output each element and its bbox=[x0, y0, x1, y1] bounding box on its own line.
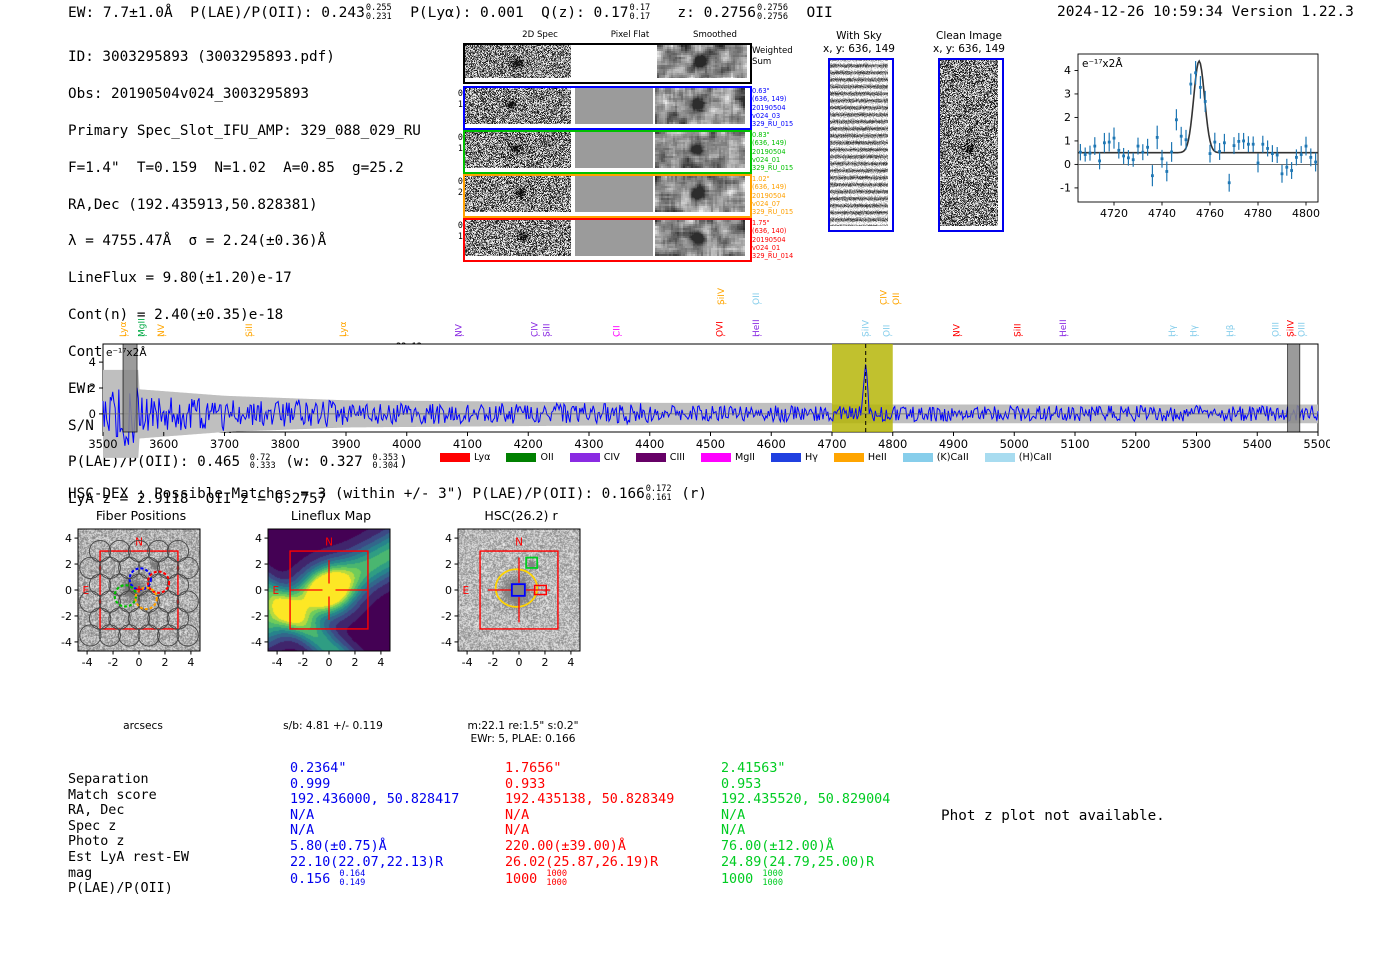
spec2d-col-title-pixelflat: Pixel Flat bbox=[590, 30, 670, 40]
compass-north: N bbox=[515, 536, 523, 548]
spec2d-strip-meta-line: 329_RU_015 bbox=[752, 208, 793, 216]
spec2d-strip-meta-line: 20190504 bbox=[752, 192, 793, 200]
spectrum-xtick: 5200 bbox=[1121, 437, 1150, 451]
line-marker-label: SiIV bbox=[717, 287, 727, 305]
spec2d-strip-image bbox=[463, 86, 752, 130]
compass-north: N bbox=[135, 536, 143, 548]
matches-row-label: Match score bbox=[68, 788, 189, 804]
line-marker-label: OII bbox=[892, 293, 902, 305]
imaging-xtick: 2 bbox=[161, 656, 168, 669]
header-summary-line: EW: 7.7±1.0Å P(LAE)/P(OII): 0.2430.2550.… bbox=[68, 4, 833, 22]
matches-cell: 192.435138, 50.828349 bbox=[505, 792, 674, 808]
imaging-xtick: 2 bbox=[541, 656, 548, 669]
spec2d-strip-image bbox=[463, 174, 752, 218]
header-z-value: 0.2756 bbox=[704, 5, 756, 21]
legend-swatch bbox=[570, 453, 600, 462]
legend-swatch bbox=[985, 453, 1015, 462]
matches-cell: 1000 10001000 bbox=[505, 870, 674, 888]
header-z-lo: 0.2756 bbox=[757, 12, 788, 22]
imaging-panel-title: HSC(26.2) r bbox=[436, 508, 606, 523]
spec2d-strip-meta-line: 1.02" bbox=[752, 175, 793, 183]
legend-label: HeII bbox=[868, 452, 887, 463]
compass-east: E bbox=[272, 585, 279, 597]
spec2d-strip: 0.371.114340.63"(636, 149)20190504v024_0… bbox=[440, 86, 780, 130]
matches-cell: 1.7656" bbox=[505, 761, 674, 777]
line-marker-label: SiIV bbox=[1287, 319, 1297, 337]
imaging-panel-svg: NE-4-4-2-2002244 bbox=[48, 523, 233, 720]
imaging-xtick: 2 bbox=[351, 656, 358, 669]
emission-line-zoom-plot: e⁻¹⁷x2Å47204740476047804800-101234 bbox=[1036, 44, 1326, 234]
matches-cell: 192.435520, 50.829004 bbox=[721, 792, 890, 808]
imaging-panel-title: Lineflux Map bbox=[246, 508, 416, 523]
imaging-ytick: 2 bbox=[445, 558, 452, 571]
matches-plae-lo: 1000 bbox=[762, 878, 783, 888]
spectrum-xtick: 3800 bbox=[271, 437, 300, 451]
imaging-xtick: -2 bbox=[488, 656, 499, 669]
line-marker-label: OII bbox=[752, 293, 762, 305]
info-lambda: λ = 4755.47Å σ = 2.24(±0.36)Å bbox=[68, 232, 432, 250]
cutout-title-text: Clean Image bbox=[928, 30, 1010, 43]
matches-cell: 0.999 bbox=[290, 777, 459, 793]
spec2d-strip-meta-line: 1.75" bbox=[752, 219, 793, 227]
line-marker-label: Lyα bbox=[119, 321, 129, 337]
matches-cell: N/A bbox=[721, 808, 890, 824]
spec2d-strip-meta-line: (636, 149) bbox=[752, 139, 793, 147]
line-marker-label: SiII bbox=[1013, 323, 1023, 337]
spectrum-xtick: 5500 bbox=[1303, 437, 1330, 451]
matches-column: 1.7656"0.933192.435138, 50.828349N/AN/A2… bbox=[505, 761, 674, 888]
legend-swatch bbox=[701, 453, 731, 462]
spec2d-strip-meta-line: 0.83" bbox=[752, 131, 793, 139]
matches-column: 0.2364"0.999192.436000, 50.828417N/AN/A5… bbox=[290, 761, 459, 888]
info-id: ID: 3003295893 (3003295893.pdf) bbox=[68, 48, 432, 66]
spec2d-strip-meta-line: v024_01 bbox=[752, 156, 793, 164]
spec2d-strip-image bbox=[463, 130, 752, 174]
spec2d-strip: 0.291.334340.83"(636, 149)20190504v024_0… bbox=[440, 130, 780, 174]
spec2d-strip-meta-line: v024_01 bbox=[752, 244, 793, 252]
matches-row-label: Est LyA rest-EW bbox=[68, 850, 189, 866]
imaging-xtick: -4 bbox=[82, 656, 93, 669]
emission-line-markers: ⏞Lyα⏞MgII⏞NV⏞SiII⏞Lyα⏞NV⏞CIV⏞SiII⏞CII⏞OV… bbox=[119, 287, 1308, 345]
line-marker-label: Lyα bbox=[339, 321, 349, 337]
legend-swatch bbox=[506, 453, 536, 462]
imaging-ytick: 2 bbox=[255, 558, 262, 571]
cutout-image-with-sky bbox=[828, 58, 894, 232]
line-marker-label: HeII bbox=[1059, 319, 1069, 337]
line-marker-label: NV bbox=[454, 323, 464, 337]
photz-note: Phot z plot not available. bbox=[941, 808, 1165, 824]
matches-cell: 76.00(±12.00)Å bbox=[721, 839, 890, 855]
matches-plae-value: 0.156 bbox=[290, 872, 338, 887]
imaging-xtick: 0 bbox=[136, 656, 143, 669]
legend-swatch bbox=[440, 453, 470, 462]
imaging-ytick: 2 bbox=[65, 558, 72, 571]
spectrum-xtick: 5300 bbox=[1182, 437, 1211, 451]
header-plae-value: 0.243 bbox=[321, 5, 365, 21]
legend-label: (K)CaII bbox=[937, 452, 969, 463]
full-spectrum-plot: ⏞Lyα⏞MgII⏞NV⏞SiII⏞Lyα⏞NV⏞CIV⏞SiII⏞CII⏞OV… bbox=[60, 272, 1330, 472]
imaging-ytick: 0 bbox=[445, 584, 452, 597]
imaging-panel-caption-line: m:22.1 re:1.5" s:0.2" bbox=[438, 720, 608, 733]
imaging-ytick: -2 bbox=[441, 610, 452, 623]
imaging-ytick: -4 bbox=[441, 636, 452, 649]
legend-swatch bbox=[771, 453, 801, 462]
matches-row-label: Photo z bbox=[68, 834, 189, 850]
imaging-ytick: -4 bbox=[251, 636, 262, 649]
matches-cell: N/A bbox=[505, 808, 674, 824]
cutout-image-clean bbox=[938, 58, 1004, 232]
imaging-panel-caption: m:22.1 re:1.5" s:0.2"EWr: 5, PLAE: 0.166 bbox=[438, 720, 608, 746]
info-radec: RA,Dec (192.435913,50.828381) bbox=[68, 196, 432, 214]
info-seeing: F=1.4" T=0.159 N=1.02 A=0.85 g=25.2 bbox=[68, 159, 432, 177]
spec2d-montage: 2D Spec Pixel Flat Smoothed Weighted Sum… bbox=[440, 30, 780, 265]
matches-cell: 24.89(24.79,25.00)R bbox=[721, 855, 890, 871]
cutout-coords: x, y: 636, 149 bbox=[818, 43, 900, 56]
spectrum-xtick: 3900 bbox=[331, 437, 360, 451]
imaging-panel-title: Fiber Positions bbox=[56, 508, 226, 523]
matches-cell: 26.02(25.87,26.19)R bbox=[505, 855, 674, 871]
hsc-headline-lo: 0.161 bbox=[646, 493, 672, 503]
line-marker-label: NV bbox=[157, 323, 167, 337]
line-marker-label: OII bbox=[883, 325, 893, 337]
legend-label: OII bbox=[540, 452, 553, 463]
matches-row-label: P(LAE)/P(OII) bbox=[68, 881, 189, 897]
imaging-xtick: -4 bbox=[272, 656, 283, 669]
compass-east: E bbox=[462, 585, 469, 597]
header-qz-label: Q(z): bbox=[541, 5, 585, 21]
matches-cell: 220.00(±39.00)Å bbox=[505, 839, 674, 855]
header-plae-label: P(LAE)/P(OII): bbox=[190, 5, 312, 21]
imaging-xtick: -2 bbox=[108, 656, 119, 669]
header-z-label: z: bbox=[677, 5, 694, 21]
matches-row-label: Spec z bbox=[68, 819, 189, 835]
matches-column: 2.41563"0.953192.435520, 50.829004N/AN/A… bbox=[721, 761, 890, 888]
cutout-title: With Skyx, y: 636, 149 bbox=[818, 30, 900, 55]
header-qz-lo: 0.17 bbox=[629, 12, 650, 22]
line-marker-label: OIII bbox=[1272, 322, 1282, 337]
matches-cell: 22.10(22.07,22.13)R bbox=[290, 855, 459, 871]
imaging-ytick: 0 bbox=[65, 584, 72, 597]
spectrum-xtick: 5400 bbox=[1243, 437, 1272, 451]
spec2d-strip-meta-line: (636, 140) bbox=[752, 227, 793, 235]
line-marker-label: CIV bbox=[880, 289, 890, 305]
legend-label: MgII bbox=[735, 452, 755, 463]
header-ew: EW: 7.7±1.0Å bbox=[68, 5, 173, 21]
spec2d-strip-meta-line: (636, 149) bbox=[752, 183, 793, 191]
zoom-plot-xtick: 4720 bbox=[1100, 207, 1128, 220]
legend-label: CIII bbox=[670, 452, 685, 463]
zoom-plot-xtick: 4780 bbox=[1244, 207, 1272, 220]
info-obs: Obs: 20190504v024_3003295893 bbox=[68, 85, 432, 103]
spec2d-strip: 0.212.184341.02"(636, 149)20190504v024_0… bbox=[440, 174, 780, 218]
line-marker-label: NV bbox=[953, 323, 963, 337]
masked-region bbox=[1288, 344, 1300, 432]
legend-swatch bbox=[636, 453, 666, 462]
line-marker-label: CII bbox=[612, 325, 622, 337]
spectrum-xtick: 3700 bbox=[210, 437, 239, 451]
matches-row-label: RA, Dec bbox=[68, 803, 189, 819]
zoom-plot-ytick: 4 bbox=[1064, 64, 1071, 77]
imaging-panel-caption-line2: EWr: 5, PLAE: 0.166 bbox=[438, 733, 608, 746]
zoom-plot-ytick: 0 bbox=[1064, 158, 1071, 171]
imaging-ytick: -2 bbox=[61, 610, 72, 623]
imaging-panel-2: HSC(26.2) rNE-4-4-2-2002244m:22.1 re:1.5… bbox=[428, 508, 613, 746]
matches-cell: N/A bbox=[505, 823, 674, 839]
spec2d-col-title-2dspec: 2D Spec bbox=[500, 30, 580, 40]
spectrum-xtick: 4000 bbox=[392, 437, 421, 451]
zoom-plot-ytick: 1 bbox=[1064, 135, 1071, 148]
spec2d-strip-meta-line: v024_03 bbox=[752, 112, 793, 120]
spec2d-strip-meta-line: 0.63" bbox=[752, 87, 793, 95]
spectrum-annotation: e⁻¹⁷x2Å bbox=[106, 346, 147, 359]
matches-cell: 0.953 bbox=[721, 777, 890, 793]
spec2d-strip-meta-line: v024_07 bbox=[752, 200, 793, 208]
zoom-plot-ytick: -1 bbox=[1060, 182, 1071, 195]
imaging-xtick: -4 bbox=[462, 656, 473, 669]
imaging-panel-0: Fiber PositionsNE-4-4-2-2002244arcsecs bbox=[48, 508, 233, 733]
imaging-panel-row: Fiber PositionsNE-4-4-2-2002244arcsecsLi… bbox=[48, 508, 688, 738]
imaging-xtick: -2 bbox=[298, 656, 309, 669]
spec2d-col-title-smoothed: Smoothed bbox=[675, 30, 755, 40]
spectrum-xtick: 3600 bbox=[149, 437, 178, 451]
matches-cell: N/A bbox=[290, 808, 459, 824]
matches-cell: 0.933 bbox=[505, 777, 674, 793]
spec2d-strip-meta-line: 20190504 bbox=[752, 148, 793, 156]
line-marker-label: HeII bbox=[752, 319, 762, 337]
matches-cell: N/A bbox=[721, 823, 890, 839]
header-timestamp: 2024-12-26 10:59:34 Version 1.22.3 bbox=[1057, 4, 1354, 20]
matches-table-row-labels: SeparationMatch scoreRA, DecSpec zPhoto … bbox=[68, 772, 189, 897]
legend-swatch bbox=[834, 453, 864, 462]
spec2d-strip-meta-line: 329_RU_015 bbox=[752, 164, 793, 172]
cutout-title-text: With Sky bbox=[818, 30, 900, 43]
matches-row-label: Separation bbox=[68, 772, 189, 788]
spec2d-strip-meta-line: (636, 149) bbox=[752, 95, 793, 103]
zoom-plot-xtick: 4740 bbox=[1148, 207, 1176, 220]
spectrum-ytick: 2 bbox=[89, 381, 96, 395]
imaging-ytick: 4 bbox=[65, 532, 72, 545]
matches-cell: 5.80(±0.75)Å bbox=[290, 839, 459, 855]
zoom-plot-svg: e⁻¹⁷x2Å47204740476047804800-101234 bbox=[1036, 44, 1326, 234]
header-plya: P(Lyα): 0.001 bbox=[410, 5, 524, 21]
imaging-ytick: -2 bbox=[251, 610, 262, 623]
spec2d-weighted-sum-panel bbox=[463, 43, 752, 84]
zoom-plot-xtick: 4800 bbox=[1292, 207, 1320, 220]
zoom-plot-ytick: 2 bbox=[1064, 111, 1071, 124]
hsc-headline-text: HSC-DEX : Possible Matches = 3 (within +… bbox=[68, 486, 645, 502]
spec2d-strip-meta-line: 20190504 bbox=[752, 236, 793, 244]
matches-cell: 0.2364" bbox=[290, 761, 459, 777]
imaging-xtick: 4 bbox=[187, 656, 194, 669]
spec2d-strip-meta: 0.83"(636, 149)20190504v024_01329_RU_015 bbox=[752, 131, 793, 172]
spectrum-ytick: 0 bbox=[89, 407, 96, 421]
imaging-xtick: 0 bbox=[326, 656, 333, 669]
legend-label: CIV bbox=[604, 452, 620, 463]
matches-row-label: mag bbox=[68, 866, 189, 882]
hsc-headline-band: (r) bbox=[681, 486, 707, 502]
matches-plae-value: 1000 bbox=[721, 872, 761, 887]
line-marker-label: Hβ bbox=[1226, 324, 1236, 337]
cutout-panels: With Skyx, y: 636, 149Clean Imagex, y: 6… bbox=[818, 30, 1018, 250]
imaging-ytick: 0 bbox=[255, 584, 262, 597]
line-marker-label: OVI bbox=[716, 321, 726, 337]
spec2d-strip-meta-line: 329_RU_015 bbox=[752, 120, 793, 128]
matches-cell: 1000 10001000 bbox=[721, 870, 890, 888]
legend-label: Lyα bbox=[474, 452, 490, 463]
matches-plae-value: 1000 bbox=[505, 872, 545, 887]
line-marker-label: SiII bbox=[245, 323, 255, 337]
cutout-title: Clean Imagex, y: 636, 149 bbox=[928, 30, 1010, 55]
header-z-class: OII bbox=[806, 5, 832, 21]
spectrum-legend: LyαOIICIVCIIIMgIIHγHeII(K)CaII(H)CaII bbox=[440, 447, 1068, 466]
compass-north: N bbox=[325, 536, 333, 548]
line-marker-label: SiII bbox=[543, 323, 553, 337]
imaging-panel-caption: arcsecs bbox=[58, 720, 228, 733]
header-qz-value: 0.17 bbox=[594, 5, 629, 21]
line-marker-label: Hγ bbox=[1190, 324, 1200, 337]
imaging-ytick: -4 bbox=[61, 636, 72, 649]
imaging-panel-svg: NE-4-4-2-2002244 bbox=[428, 523, 613, 720]
matches-cell: 192.436000, 50.828417 bbox=[290, 792, 459, 808]
line-marker-label: CIV bbox=[530, 321, 540, 337]
spec2d-strip-meta: 1.75"(636, 140)20190504v024_01329_RU_014 bbox=[752, 219, 793, 260]
info-spec-slot: Primary Spec_Slot_IFU_AMP: 329_088_029_R… bbox=[68, 122, 432, 140]
legend-label: Hγ bbox=[805, 452, 818, 463]
full-spectrum-svg: ⏞Lyα⏞MgII⏞NV⏞SiII⏞Lyα⏞NV⏞CIV⏞SiII⏞CII⏞OV… bbox=[60, 272, 1330, 472]
spec2d-strip-image bbox=[463, 218, 752, 262]
spec2d-strip-meta-line: 329_RU_014 bbox=[752, 252, 793, 260]
spec2d-strip-meta-line: 20190504 bbox=[752, 104, 793, 112]
matches-cell: 2.41563" bbox=[721, 761, 890, 777]
legend-label: (H)CaII bbox=[1019, 452, 1052, 463]
imaging-xtick: 0 bbox=[516, 656, 523, 669]
imaging-xtick: 4 bbox=[567, 656, 574, 669]
spec2d-weighted-sum-label: Weighted Sum bbox=[752, 46, 793, 67]
legend-swatch bbox=[903, 453, 933, 462]
line-marker-label: MgII bbox=[137, 318, 147, 337]
line-marker-label: Hγ bbox=[1168, 324, 1178, 337]
line-marker-label: OIII bbox=[1298, 322, 1308, 337]
imaging-panel-svg: NE-4-4-2-2002244 bbox=[238, 523, 423, 720]
spec2d-strip: 0.041.624351.75"(636, 140)20190504v024_0… bbox=[440, 218, 780, 262]
matches-cell: N/A bbox=[290, 823, 459, 839]
imaging-ytick: 4 bbox=[445, 532, 452, 545]
line-marker-label: SiIV bbox=[861, 319, 871, 337]
imaging-panel-caption: s/b: 4.81 +/- 0.119 bbox=[248, 720, 418, 733]
spec2d-strip-meta: 1.02"(636, 149)20190504v024_07329_RU_015 bbox=[752, 175, 793, 216]
zoom-plot-ytick: 3 bbox=[1064, 88, 1071, 101]
matches-plae-lo: 1000 bbox=[546, 878, 567, 888]
imaging-ytick: 4 bbox=[255, 532, 262, 545]
zoom-plot-xtick: 4760 bbox=[1196, 207, 1224, 220]
matches-plae-lo: 0.149 bbox=[339, 878, 365, 888]
header-plae-lo: 0.231 bbox=[366, 12, 392, 22]
cutout-coords: x, y: 636, 149 bbox=[928, 43, 1010, 56]
imaging-panel-1: Lineflux MapNE-4-4-2-2002244s/b: 4.81 +/… bbox=[238, 508, 423, 733]
imaging-panel-caption-line: s/b: 4.81 +/- 0.119 bbox=[248, 720, 418, 733]
zoom-plot-annotation: e⁻¹⁷x2Å bbox=[1082, 57, 1123, 70]
imaging-xtick: 4 bbox=[377, 656, 384, 669]
spectrum-xtick: 3500 bbox=[88, 437, 117, 451]
matches-cell: 0.156 0.1640.149 bbox=[290, 870, 459, 888]
hsc-dex-headline: HSC-DEX : Possible Matches = 3 (within +… bbox=[68, 485, 707, 503]
spec2d-strip-meta: 0.63"(636, 149)20190504v024_03329_RU_015 bbox=[752, 87, 793, 128]
imaging-panel-xlabel: arcsecs bbox=[58, 720, 228, 733]
spectrum-ytick: 4 bbox=[89, 355, 96, 369]
